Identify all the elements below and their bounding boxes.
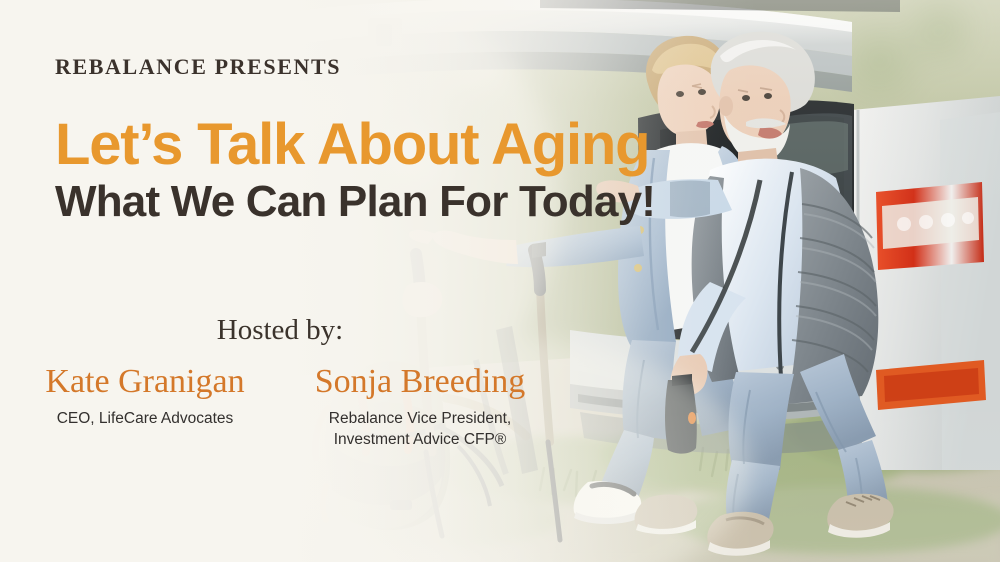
hosts-row: Kate Granigan CEO, LifeCare Advocates So… <box>0 362 560 450</box>
host-role-line2: Investment Advice CFP® <box>285 429 555 450</box>
slide-canvas: REBALANCE PRESENTS Let’s Talk About Agin… <box>0 0 1000 562</box>
hosted-by-label: Hosted by: <box>0 314 560 347</box>
page-title: Let’s Talk About Aging <box>55 116 649 174</box>
kicker-text: REBALANCE PRESENTS <box>55 54 341 80</box>
host-role-line1: Rebalance Vice President, <box>285 408 555 429</box>
host-name: Kate Granigan <box>5 362 285 402</box>
slide-content: REBALANCE PRESENTS Let’s Talk About Agin… <box>0 0 1000 562</box>
host-role-line1: CEO, LifeCare Advocates <box>5 408 285 429</box>
host-card-1: Kate Granigan CEO, LifeCare Advocates <box>5 362 285 429</box>
host-name: Sonja Breeding <box>285 362 555 402</box>
host-card-2: Sonja Breeding Rebalance Vice President,… <box>285 362 555 450</box>
page-subtitle: What We Can Plan For Today! <box>55 178 655 226</box>
